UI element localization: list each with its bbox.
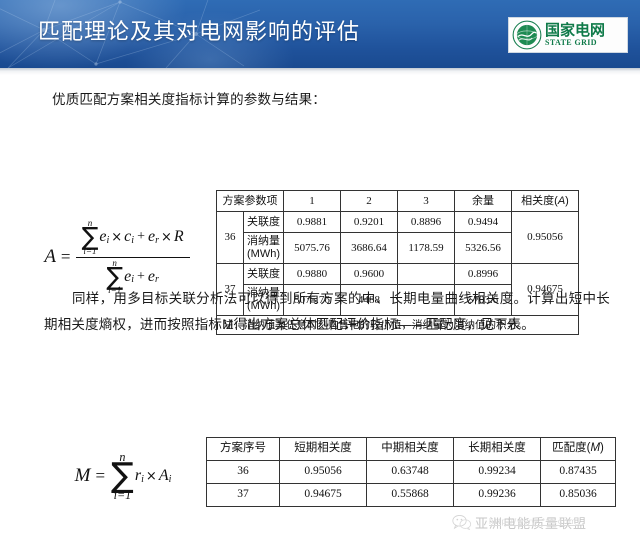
relevance-label: 相关度(	[521, 195, 558, 207]
cell-37-corr-2: 0.9600	[341, 264, 398, 285]
logo-chinese-name: 国家电网	[545, 23, 605, 38]
cell-37-corr-surplus: 0.8996	[455, 264, 512, 285]
header-cell-mid: 中期相关度	[367, 438, 454, 461]
sigma-lower-limit-m: i=1	[114, 489, 132, 501]
cell-36-corr-3: 0.8896	[398, 212, 455, 233]
logo-english-name: STATE GRID	[545, 39, 605, 47]
header-cell-short: 短期相关度	[280, 438, 367, 461]
header-banner: 匹配理论及其对电网影响的评估 国家电网 STATE GRID	[0, 0, 640, 68]
sub-i-3: i	[131, 274, 134, 285]
cell-36-corr-2: 0.9201	[341, 212, 398, 233]
cell-36-cons-surplus: 5326.56	[455, 233, 512, 264]
term-e-3: e	[124, 268, 131, 286]
cell-36-cons-1: 5075.76	[284, 233, 341, 264]
sub-r-1: r	[155, 235, 159, 246]
header-cell-surplus: 余量	[455, 191, 512, 212]
header-cell-long: 长期相关度	[454, 438, 541, 461]
cell-36-relevance: 0.95056	[512, 212, 579, 264]
cell-row37-no: 37	[207, 484, 280, 507]
sigma-glyph-m: ∑	[111, 462, 134, 490]
state-grid-logo: 国家电网 STATE GRID	[508, 17, 628, 53]
relevance-close: )	[565, 195, 569, 207]
cell-row36-no: 36	[207, 461, 280, 484]
times-1: ×	[111, 230, 122, 245]
term-c: c	[124, 228, 131, 246]
times-2: ×	[161, 230, 172, 245]
match-close: )	[600, 442, 604, 454]
header-cell-3: 3	[398, 191, 455, 212]
times-m: ×	[146, 469, 157, 484]
sub-i-1: i	[106, 235, 109, 246]
cell-row37-mid: 0.55868	[367, 484, 454, 507]
table-row: 36 关联度 0.9881 0.9201 0.8896 0.9494 0.950…	[217, 212, 579, 233]
sigma-symbol-m: n ∑ i=1	[111, 452, 134, 501]
term-e: e	[99, 228, 106, 246]
mid-paragraph: 同样，用多目标关联分析法可以得到所有方案的中、长期电量曲线相关度。计算出短中长期…	[44, 286, 610, 338]
sub-r-2: r	[155, 274, 159, 285]
term-e-4: e	[148, 268, 155, 286]
cell-36-cons-2: 3686.64	[341, 233, 398, 264]
cell-37-corr-1: 0.9880	[284, 264, 341, 285]
cell-row36-match: 0.87435	[541, 461, 616, 484]
header-cell-item: 方案参数项	[217, 191, 284, 212]
table-row-header: 方案序号 短期相关度 中期相关度 长期相关度 匹配度(M)	[207, 438, 616, 461]
table-row: 37 0.94675 0.55868 0.99236 0.85036	[207, 484, 616, 507]
sub-i-m2: i	[169, 474, 172, 485]
term-A: A	[159, 467, 169, 485]
row-label-consumption-36: 消纳量 (MWh)	[244, 233, 284, 264]
row-label-correlation-36: 关联度	[244, 212, 284, 233]
watermark-url: http://www.***.com	[489, 516, 577, 526]
formula-a: A = n ∑ i=1 ei×ci+er×R n ∑ i=1 ei+er	[22, 218, 212, 296]
sigma-symbol-numerator: n ∑ i=1	[82, 219, 99, 256]
plus-1: +	[137, 229, 145, 245]
wechat-icon	[452, 514, 472, 530]
cell-row36-long: 0.99234	[454, 461, 541, 484]
cell-row37-long: 0.99236	[454, 484, 541, 507]
cell-row36-mid: 0.63748	[367, 461, 454, 484]
consumption-unit-36: (MWh)	[247, 248, 280, 260]
table-row-header: 方案参数项 1 2 3 余量 相关度(A)	[217, 191, 579, 212]
consumption-label-36: 消纳量	[247, 235, 280, 247]
sigma-glyph-2: ∑	[106, 267, 123, 288]
intro-line: 优质匹配方案相关度指标计算的参数与结果：	[52, 89, 326, 110]
cell-37-corr-3	[398, 264, 455, 285]
header-cell-plan-no: 方案序号	[207, 438, 280, 461]
match-label: 匹配度(	[552, 442, 590, 454]
cell-row37-match: 0.85036	[541, 484, 616, 507]
cell-row37-short: 0.94675	[280, 484, 367, 507]
formula-a-equals: =	[61, 247, 71, 267]
state-grid-emblem-icon	[512, 20, 542, 50]
formula-a-numerator: n ∑ i=1 ei×ci+er×R	[76, 218, 190, 257]
sub-i-2: i	[131, 235, 134, 246]
formula-a-lhs: A	[44, 246, 56, 268]
cell-36-corr-surplus: 0.9494	[455, 212, 512, 233]
slide-content: 优质匹配方案相关度指标计算的参数与结果： A = n ∑ i=1 ei×ci+e…	[0, 68, 640, 480]
logo-text-block: 国家电网 STATE GRID	[545, 23, 605, 47]
cell-row36-short: 0.95056	[280, 461, 367, 484]
page-title: 匹配理论及其对电网影响的评估	[38, 17, 360, 47]
watermark: 亚洲电能质量联盟 http://www.***.com	[452, 510, 627, 534]
formula-m-lhs: M	[75, 465, 91, 487]
watermark-text: 亚洲电能质量联盟 http://www.***.com	[475, 513, 587, 532]
formula-m: M = n ∑ i=1 ri×Ai	[38, 458, 208, 495]
header-cell-1: 1	[284, 191, 341, 212]
header-cell-2: 2	[341, 191, 398, 212]
cell-36-corr-1: 0.9881	[284, 212, 341, 233]
term-e-2: e	[148, 228, 155, 246]
group-id-36: 36	[217, 212, 244, 264]
sub-i-m1: i	[141, 474, 144, 485]
sigma-lower-limit: i=1	[83, 247, 96, 256]
matching-degree-table: 方案序号 短期相关度 中期相关度 长期相关度 匹配度(M) 36 0.95056…	[206, 437, 616, 507]
cell-36-cons-3: 1178.59	[398, 233, 455, 264]
header-cell-relevance: 相关度(A)	[512, 191, 579, 212]
match-var: M	[590, 442, 600, 454]
formula-a-fraction: n ∑ i=1 ei×ci+er×R n ∑ i=1 ei+er	[76, 218, 190, 296]
row-label-correlation-37: 关联度	[244, 264, 284, 285]
table-row: 37 关联度 0.9880 0.9600 0.8996 0.94675	[217, 264, 579, 285]
table-row: 36 0.95056 0.63748 0.99234 0.87435	[207, 461, 616, 484]
plus-2: +	[137, 269, 145, 285]
sigma-glyph: ∑	[82, 227, 99, 248]
term-R: R	[174, 228, 184, 246]
formula-m-equals: =	[95, 466, 105, 486]
header-cell-match: 匹配度(M)	[541, 438, 616, 461]
